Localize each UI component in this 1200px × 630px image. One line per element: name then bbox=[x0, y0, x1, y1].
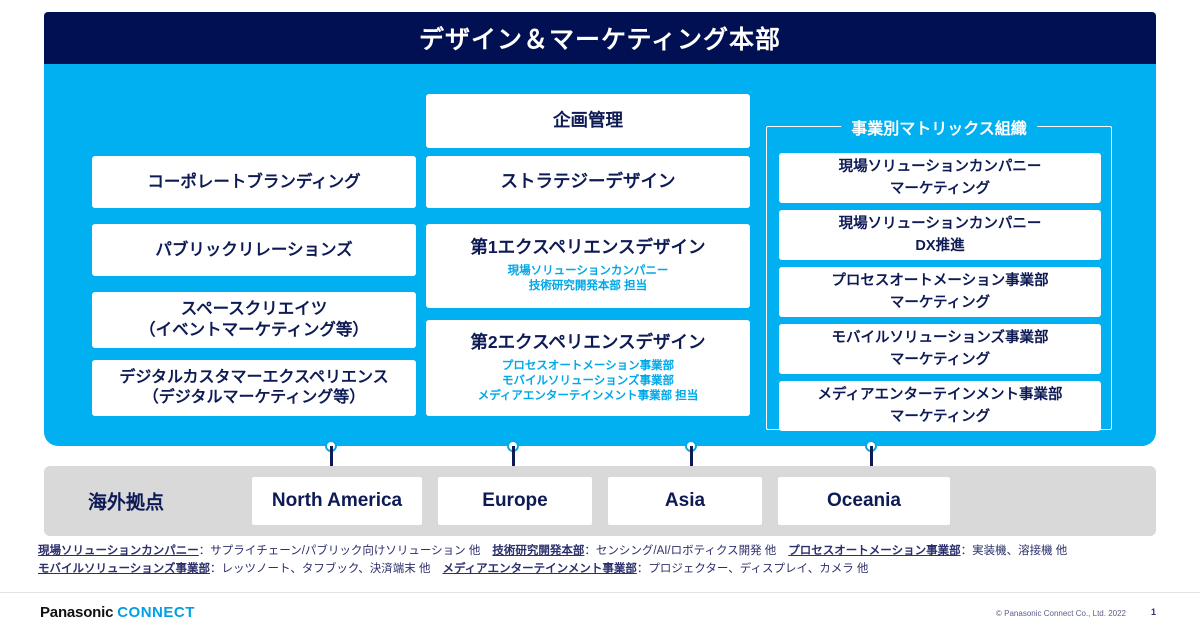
matrix-organization-title: 事業別マトリックス組織 bbox=[841, 115, 1037, 139]
footnote-desc: ：レッツノート、タフブック、決済端末 他 bbox=[210, 563, 430, 575]
org-box-gs-company-dx[interactable]: 現場ソリューションカンパニー DX推進 bbox=[779, 210, 1101, 260]
org-box-label: プロセスオートメーション事業部 bbox=[831, 272, 1048, 290]
scope-line: 現場ソリューションカンパニー bbox=[508, 264, 669, 279]
brand-primary: Panasonic bbox=[40, 604, 113, 621]
org-box-label: デジタルカスタマーエクスペリエンス bbox=[119, 368, 388, 388]
org-box-media-entertainment-marketing[interactable]: メディアエンターテインメント事業部 マーケティング bbox=[779, 381, 1101, 431]
org-box-digital-customer-experience[interactable]: デジタルカスタマーエクスペリエンス （デジタルマーケティング等） bbox=[92, 360, 416, 416]
org-box-gs-company-marketing[interactable]: 現場ソリューションカンパニー マーケティング bbox=[779, 153, 1101, 203]
footnote-desc: ：センシング/AI/ロボティクス開発 他 bbox=[584, 545, 776, 557]
slide-title-bar: デザイン＆マーケティング本部 bbox=[44, 12, 1156, 64]
scope-line: 技術研究開発本部 担当 bbox=[508, 279, 669, 294]
footnote-term: 現場ソリューションカンパニー bbox=[38, 545, 199, 557]
footnote-line-2: モバイルソリューションズ事業部：レッツノート、タフブック、決済端末 他メディアエ… bbox=[38, 561, 1168, 579]
org-box-second-experience-design[interactable]: 第2エクスペリエンスデザイン プロセスオートメーション事業部 モバイルソリューシ… bbox=[426, 320, 750, 416]
org-box-sublabel: （デジタルマーケティング等） bbox=[143, 388, 365, 408]
org-box-public-relations[interactable]: パブリックリレーションズ bbox=[92, 224, 416, 276]
org-box-label: モバイルソリューションズ事業部 bbox=[832, 329, 1049, 347]
brand-secondary: CONNECT bbox=[117, 604, 195, 621]
org-box-corporate-branding[interactable]: コーポレートブランディング bbox=[92, 156, 416, 208]
page-number: 1 bbox=[1151, 607, 1156, 617]
org-box-label: 企画管理 bbox=[553, 110, 623, 132]
footnote-term: モバイルソリューションズ事業部 bbox=[38, 563, 210, 575]
scope-line: プロセスオートメーション事業部 bbox=[478, 359, 699, 374]
footnote-term: 技術研究開発本部 bbox=[492, 545, 584, 557]
org-box-label: 現場ソリューションカンパニー bbox=[839, 158, 1042, 176]
org-box-space-creates[interactable]: スペースクリエイツ （イベントマーケティング等） bbox=[92, 292, 416, 348]
matrix-organization-frame: 事業別マトリックス組織 現場ソリューションカンパニー マーケティング 現場ソリュ… bbox=[766, 126, 1112, 430]
footnote-desc: ：実装機、溶接機 他 bbox=[961, 545, 1068, 557]
footnote-line-1: 現場ソリューションカンパニー：サプライチェーン/パブリック向けソリューション 他… bbox=[38, 543, 1168, 561]
org-box-label: スペースクリエイツ bbox=[181, 299, 328, 320]
org-box-sublabel: マーケティング bbox=[890, 348, 990, 369]
copyright-text: © Panasonic Connect Co., Ltd. 2022 bbox=[996, 609, 1126, 618]
org-box-planning-management[interactable]: 企画管理 bbox=[426, 94, 750, 148]
org-box-strategy-design[interactable]: ストラテジーデザイン bbox=[426, 156, 750, 208]
slide-canvas: デザイン＆マーケティング本部 コーポレートブランディング パブリックリレーション… bbox=[0, 0, 1200, 630]
scope-line: モバイルソリューションズ事業部 bbox=[478, 374, 699, 389]
org-box-scope-list: 現場ソリューションカンパニー 技術研究開発本部 担当 bbox=[508, 264, 669, 294]
org-chart-panel: コーポレートブランディング パブリックリレーションズ スペースクリエイツ （イベ… bbox=[44, 64, 1156, 446]
org-box-label: メディアエンターテインメント事業部 bbox=[817, 386, 1062, 404]
org-box-label: コーポレートブランディング bbox=[147, 172, 360, 193]
base-box-europe[interactable]: Europe bbox=[438, 477, 592, 525]
scope-line: メディアエンターテインメント事業部 担当 bbox=[478, 389, 699, 404]
org-box-scope-list: プロセスオートメーション事業部 モバイルソリューションズ事業部 メディアエンター… bbox=[478, 359, 699, 405]
org-box-mobile-solutions-marketing[interactable]: モバイルソリューションズ事業部 マーケティング bbox=[779, 324, 1101, 374]
base-box-oceania[interactable]: Oceania bbox=[778, 477, 950, 525]
org-box-sublabel: マーケティング bbox=[890, 291, 990, 312]
footnotes: 現場ソリューションカンパニー：サプライチェーン/パブリック向けソリューション 他… bbox=[38, 543, 1168, 579]
footer-divider bbox=[0, 592, 1200, 593]
footnote-term: メディアエンターテインメント事業部 bbox=[442, 563, 636, 575]
org-box-label: ストラテジーデザイン bbox=[501, 171, 676, 193]
org-box-label: 現場ソリューションカンパニー bbox=[839, 215, 1042, 233]
footnote-desc: ：プロジェクター、ディスプレイ、カメラ 他 bbox=[637, 563, 869, 575]
org-box-process-automation-marketing[interactable]: プロセスオートメーション事業部 マーケティング bbox=[779, 267, 1101, 317]
org-box-label: パブリックリレーションズ bbox=[155, 240, 352, 261]
org-box-sublabel: DX推進 bbox=[915, 234, 964, 255]
base-box-asia[interactable]: Asia bbox=[608, 477, 762, 525]
org-box-sublabel: （イベントマーケティング等） bbox=[139, 320, 369, 341]
org-box-sublabel: マーケティング bbox=[890, 405, 990, 426]
org-box-label: 第1エクスペリエンスデザイン bbox=[470, 237, 705, 259]
org-box-first-experience-design[interactable]: 第1エクスペリエンスデザイン 現場ソリューションカンパニー 技術研究開発本部 担… bbox=[426, 224, 750, 308]
page-title: デザイン＆マーケティング本部 bbox=[419, 20, 781, 56]
overseas-bases-bar: 海外拠点 North America Europe Asia Oceania bbox=[44, 466, 1156, 536]
org-box-label: 第2エクスペリエンスデザイン bbox=[470, 332, 705, 354]
footnote-term: プロセスオートメーション事業部 bbox=[788, 545, 960, 557]
panasonic-connect-logo: Panasonic CONNECT bbox=[40, 604, 195, 621]
footnote-desc: ：サプライチェーン/パブリック向けソリューション 他 bbox=[199, 545, 481, 557]
base-box-north-america[interactable]: North America bbox=[252, 477, 422, 525]
org-box-sublabel: マーケティング bbox=[890, 177, 990, 198]
overseas-bases-label: 海外拠点 bbox=[88, 488, 164, 515]
